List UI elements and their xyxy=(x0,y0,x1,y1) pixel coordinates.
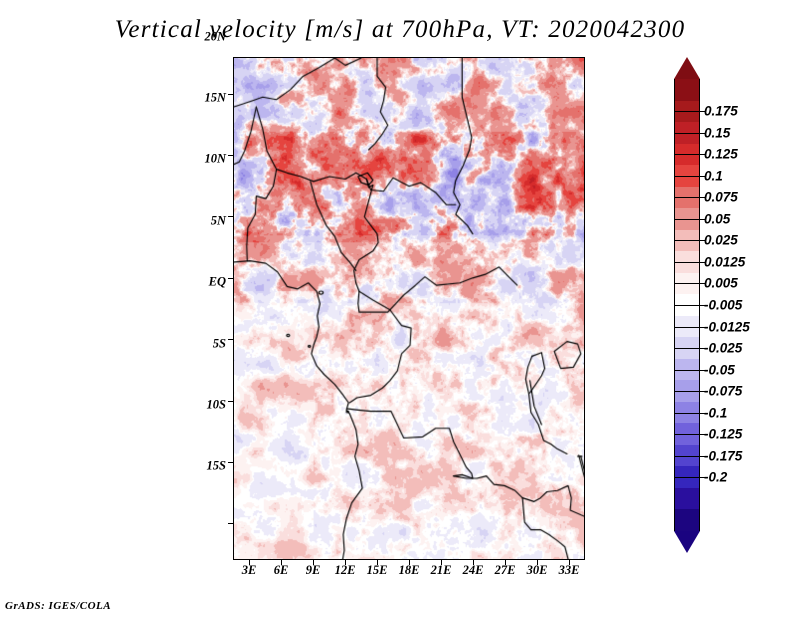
colorbar-tick-label: 0.175 xyxy=(704,104,738,119)
latitude-axis: 20N15N10N5NEQ5S10S15S xyxy=(186,0,226,503)
longitude-tick-label: 24E xyxy=(463,563,484,578)
longitude-tick-label: 33E xyxy=(559,563,580,578)
colorbar-separator xyxy=(674,305,700,306)
colorbar-tick-label: -0.05 xyxy=(704,362,735,377)
latitude-tick-mark xyxy=(228,339,233,340)
colorbar: 0.1750.150.1250.10.0750.050.0250.01250.0… xyxy=(674,57,700,553)
latitude-tick-mark xyxy=(228,401,233,402)
colorbar-separator xyxy=(674,111,700,112)
vertical-velocity-heatmap xyxy=(234,58,584,559)
colorbar-band xyxy=(674,509,700,531)
longitude-tick-label: 30E xyxy=(527,563,548,578)
longitude-tick-mark xyxy=(537,560,538,565)
latitude-tick-mark xyxy=(228,523,233,524)
colorbar-tick-label: 0.075 xyxy=(704,190,738,205)
colorbar-tick-label: 0.1 xyxy=(704,168,723,183)
longitude-tick-label: 3E xyxy=(242,563,257,578)
colorbar-tick-label: -0.2 xyxy=(704,470,727,485)
colorbar-separator xyxy=(674,348,700,349)
attribution-label: GrADS: IGES/COLA xyxy=(5,600,111,612)
colorbar-separator xyxy=(674,219,700,220)
latitude-tick-label: 20N xyxy=(204,29,226,44)
colorbar-tick-label: -0.125 xyxy=(704,427,742,442)
longitude-tick-label: 12E xyxy=(335,563,356,578)
colorbar-separator xyxy=(674,283,700,284)
longitude-tick-mark xyxy=(377,560,378,565)
colorbar-tick-label: -0.175 xyxy=(704,448,742,463)
colorbar-separator xyxy=(674,477,700,478)
colorbar-band xyxy=(674,79,700,101)
colorbar-separator xyxy=(674,197,700,198)
longitude-tick-label: 21E xyxy=(431,563,452,578)
longitude-tick-mark xyxy=(441,560,442,565)
longitude-tick-mark xyxy=(569,560,570,565)
colorbar-tick-label: -0.005 xyxy=(704,298,742,313)
colorbar-separator xyxy=(674,262,700,263)
latitude-tick-label: 5N xyxy=(211,213,226,228)
colorbar-separator xyxy=(674,133,700,134)
latitude-tick-label: 10S xyxy=(207,397,226,412)
colorbar-band xyxy=(674,488,700,510)
latitude-tick-mark xyxy=(228,278,233,279)
longitude-tick-label: 9E xyxy=(306,563,321,578)
latitude-tick-mark xyxy=(228,155,233,156)
latitude-tick-mark xyxy=(228,216,233,217)
colorbar-tick-label: -0.1 xyxy=(704,405,727,420)
colorbar-tick-label: -0.0125 xyxy=(704,319,750,334)
longitude-tick-mark xyxy=(249,560,250,565)
colorbar-separator xyxy=(674,154,700,155)
colorbar-tick-label: -0.075 xyxy=(704,384,742,399)
longitude-tick-label: 18E xyxy=(399,563,420,578)
longitude-tick-mark xyxy=(409,560,410,565)
latitude-tick-label: 10N xyxy=(204,152,226,167)
colorbar-tick-label: 0.005 xyxy=(704,276,738,291)
longitude-tick-mark xyxy=(345,560,346,565)
colorbar-separator xyxy=(674,456,700,457)
triangle-down-icon xyxy=(674,531,700,553)
latitude-tick-label: 15S xyxy=(207,459,226,474)
longitude-tick-mark xyxy=(473,560,474,565)
triangle-up-icon xyxy=(674,57,700,79)
colorbar-tick-label: 0.025 xyxy=(704,233,738,248)
longitude-axis: 3E6E9E12E15E18E21E24E27E30E33E xyxy=(233,563,585,583)
colorbar-separator xyxy=(674,434,700,435)
longitude-tick-label: 15E xyxy=(367,563,388,578)
latitude-tick-mark xyxy=(228,94,233,95)
latitude-tick-label: 5S xyxy=(213,336,226,351)
longitude-tick-mark xyxy=(505,560,506,565)
longitude-tick-label: 6E xyxy=(274,563,289,578)
colorbar-tick-label: 0.125 xyxy=(704,147,738,162)
colorbar-separator xyxy=(674,240,700,241)
colorbar-tick-label: 0.15 xyxy=(704,125,730,140)
colorbar-separator xyxy=(674,413,700,414)
colorbar-tick-label: 0.05 xyxy=(704,211,730,226)
longitude-tick-label: 27E xyxy=(495,563,516,578)
latitude-tick-label: 15N xyxy=(204,91,226,106)
colorbar-separator xyxy=(674,176,700,177)
colorbar-separator xyxy=(674,391,700,392)
page-title: Vertical velocity [m/s] at 700hPa, VT: 2… xyxy=(0,16,800,44)
latitude-tick-label: EQ xyxy=(209,275,226,290)
longitude-tick-mark xyxy=(281,560,282,565)
map-plot-frame xyxy=(233,57,585,560)
colorbar-tick-label: 0.0125 xyxy=(704,254,745,269)
colorbar-separator xyxy=(674,370,700,371)
latitude-tick-mark xyxy=(228,462,233,463)
longitude-tick-mark xyxy=(313,560,314,565)
colorbar-separator xyxy=(674,327,700,328)
colorbar-tick-label: -0.025 xyxy=(704,341,742,356)
